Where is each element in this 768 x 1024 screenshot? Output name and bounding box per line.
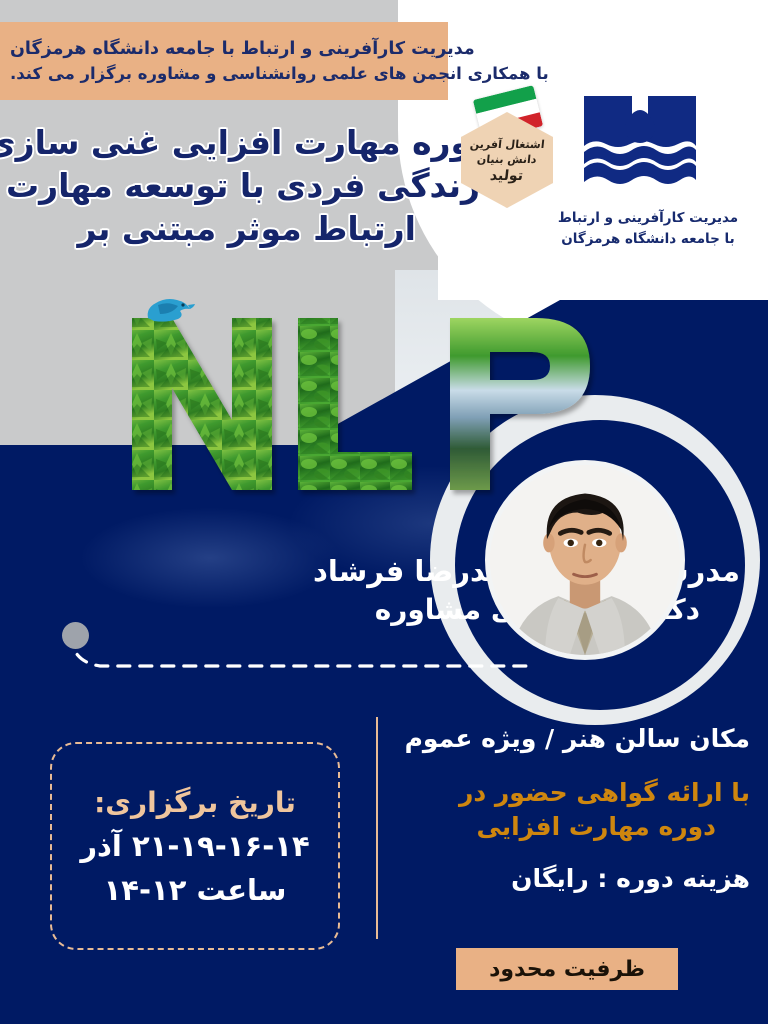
year-slogan-badge: اشتغال آفرین دانش بنیان تولید bbox=[455, 92, 561, 210]
capacity-label: ظرفیت محدود bbox=[489, 957, 645, 982]
instructor-portrait bbox=[485, 460, 685, 660]
blue-bird-icon bbox=[140, 292, 196, 326]
top-banner: مدیریت کارآفرینی و ارتباط با جامعه دانشگ… bbox=[0, 22, 448, 100]
year-slogan-line-1: اشتغال آفرین bbox=[469, 138, 545, 151]
title-line-1: دوره مهارت افزایی غنی سازی bbox=[18, 122, 488, 165]
venue-text: مکان سالن هنر / ویژه عموم bbox=[398, 722, 750, 756]
capacity-badge: ظرفیت محدود bbox=[456, 948, 678, 990]
event-poster: مدیریت کارآفرینی و ارتباط با جامعه دانشگ… bbox=[0, 0, 768, 1024]
university-logo-icon bbox=[578, 88, 702, 200]
event-info-column: مکان سالن هنر / ویژه عموم با ارائه گواهی… bbox=[398, 722, 750, 895]
date-box: تاریخ برگزاری: ۲۱-۱۹-۱۶-۱۴ آذر ساعت ۱۲-۱… bbox=[50, 742, 340, 950]
certificate-line-1: با ارائه گواهی حضور در bbox=[398, 776, 750, 810]
title-line-3: ارتباط موثر مبتنی بر bbox=[18, 208, 416, 251]
top-banner-line-1: مدیریت کارآفرینی و ارتباط با جامعه دانشگ… bbox=[10, 39, 475, 59]
university-caption-line-1: مدیریت کارآفرینی و ارتباط bbox=[548, 208, 748, 229]
year-slogan-line-2: دانش بنیان bbox=[477, 153, 538, 166]
fee-text: هزینه دوره : رایگان bbox=[398, 862, 750, 896]
university-logo-caption: مدیریت کارآفرینی و ارتباط با جامعه دانشگ… bbox=[548, 208, 748, 250]
date-label: تاریخ برگزاری: bbox=[94, 786, 296, 819]
title-line-2: زندگی فردی با توسعه مهارت های bbox=[18, 165, 480, 208]
dashed-connector-line bbox=[60, 628, 530, 698]
date-time: ساعت ۱۲-۱۴ bbox=[104, 873, 287, 907]
certificate-note: با ارائه گواهی حضور در دوره مهارت افزایی bbox=[398, 776, 750, 844]
top-banner-line-2: با همکاری انجمن های علمی روانشناسی و مشا… bbox=[10, 64, 549, 83]
year-slogan-line-3: تولید bbox=[490, 168, 525, 184]
column-divider bbox=[376, 717, 378, 939]
certificate-line-2: دوره مهارت افزایی bbox=[398, 810, 716, 844]
poster-title: دوره مهارت افزایی غنی سازی زندگی فردی با… bbox=[18, 122, 488, 251]
bullet-dot bbox=[62, 622, 89, 649]
year-slogan-text: اشتغال آفرین دانش بنیان تولید bbox=[461, 116, 553, 206]
date-values: ۲۱-۱۹-۱۶-۱۴ آذر bbox=[80, 829, 309, 863]
university-caption-line-2: با جامعه دانشگاه هرمزگان bbox=[548, 229, 748, 250]
